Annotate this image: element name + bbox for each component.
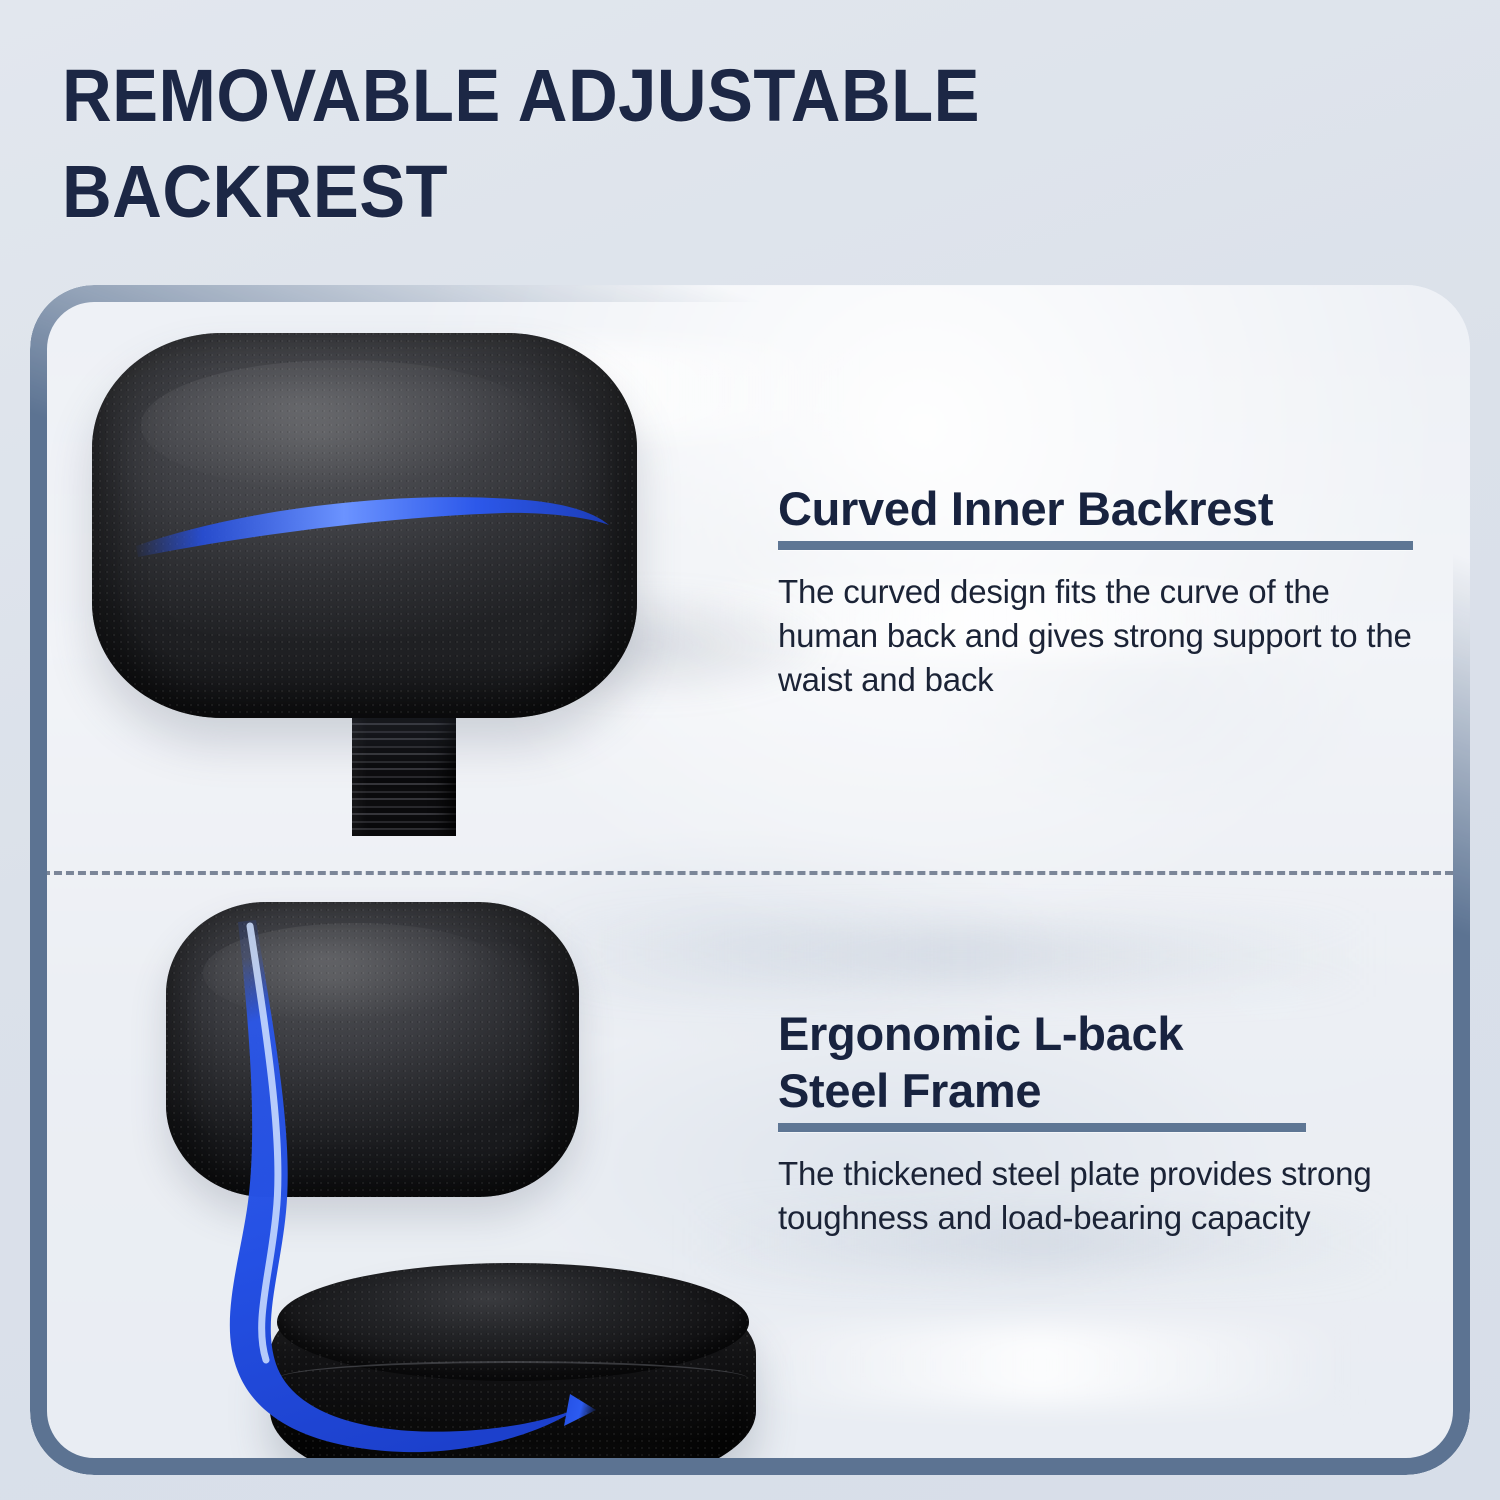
feature-heading: Curved Inner Backrest xyxy=(778,480,1418,537)
feature-heading-line-2: Steel Frame xyxy=(778,1062,1418,1119)
infographic-page: REMOVABLE ADJUSTABLE BACKREST xyxy=(0,0,1500,1500)
seat-cushion xyxy=(270,1265,756,1475)
feature-card: Curved Inner Backrest The curved design … xyxy=(30,285,1470,1475)
leather-texture xyxy=(92,333,637,718)
leather-texture xyxy=(166,902,579,1197)
product-imagery xyxy=(30,285,1470,1475)
page-title-line-1: REMOVABLE ADJUSTABLE xyxy=(62,48,1234,144)
upper-backrest-pad xyxy=(92,333,637,718)
feature-block-curved-inner-backrest: Curved Inner Backrest The curved design … xyxy=(778,480,1418,702)
feature-body-text: The curved design fits the curve of the … xyxy=(778,570,1418,702)
feature-heading-line-1: Ergonomic L-back xyxy=(778,1005,1418,1062)
feature-block-ergonomic-l-back-steel-frame: Ergonomic L-back Steel Frame The thicken… xyxy=(778,1005,1418,1240)
heading-underline-rule xyxy=(778,1123,1306,1132)
heading-underline-rule xyxy=(778,541,1413,550)
feature-body-text: The thickened steel plate provides stron… xyxy=(778,1152,1418,1240)
upper-ribbed-post xyxy=(352,710,456,836)
page-title: REMOVABLE ADJUSTABLE BACKREST xyxy=(62,48,1322,240)
leather-texture xyxy=(277,1263,748,1381)
page-title-line-2: BACKREST xyxy=(62,144,1234,240)
pad-gloss-highlight xyxy=(203,923,509,1023)
lower-backrest-pad xyxy=(166,902,579,1197)
seat-cushion-top xyxy=(277,1263,748,1381)
section-divider xyxy=(30,871,1453,875)
pad-gloss-highlight xyxy=(141,360,544,491)
